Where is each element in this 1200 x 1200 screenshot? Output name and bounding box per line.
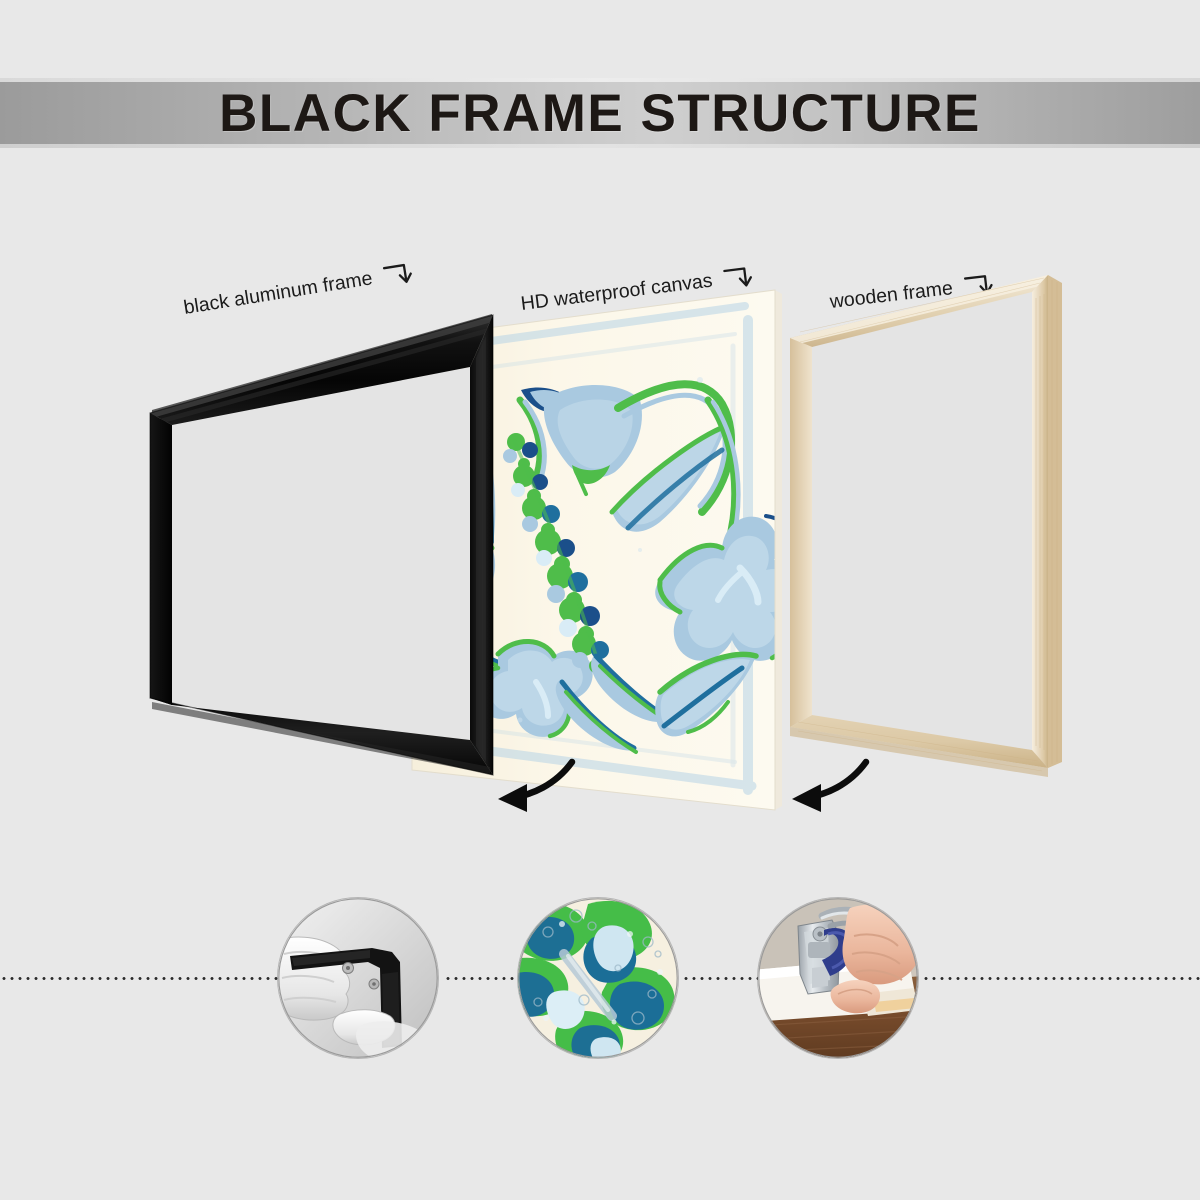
dotted-divider [682, 977, 758, 980]
aluminum-corner-photo [278, 898, 438, 1058]
dotted-divider [0, 977, 278, 980]
wood-into-frame-arrow [792, 762, 866, 812]
dotted-divider [922, 977, 1200, 980]
infographic-root: BLACK FRAME STRUCTURE black aluminum fra… [0, 0, 1200, 1200]
banner-bottom-edge [0, 144, 1200, 148]
header-banner: BLACK FRAME STRUCTURE [0, 82, 1200, 144]
page-title: BLACK FRAME STRUCTURE [219, 83, 981, 144]
black-aluminum-frame [150, 314, 493, 775]
wooden-frame [790, 275, 1062, 777]
staple-gun-photo [758, 898, 918, 1058]
dotted-divider [444, 977, 518, 980]
exploded-view-scene [0, 250, 1200, 850]
paint-texture-photo [518, 898, 678, 1058]
